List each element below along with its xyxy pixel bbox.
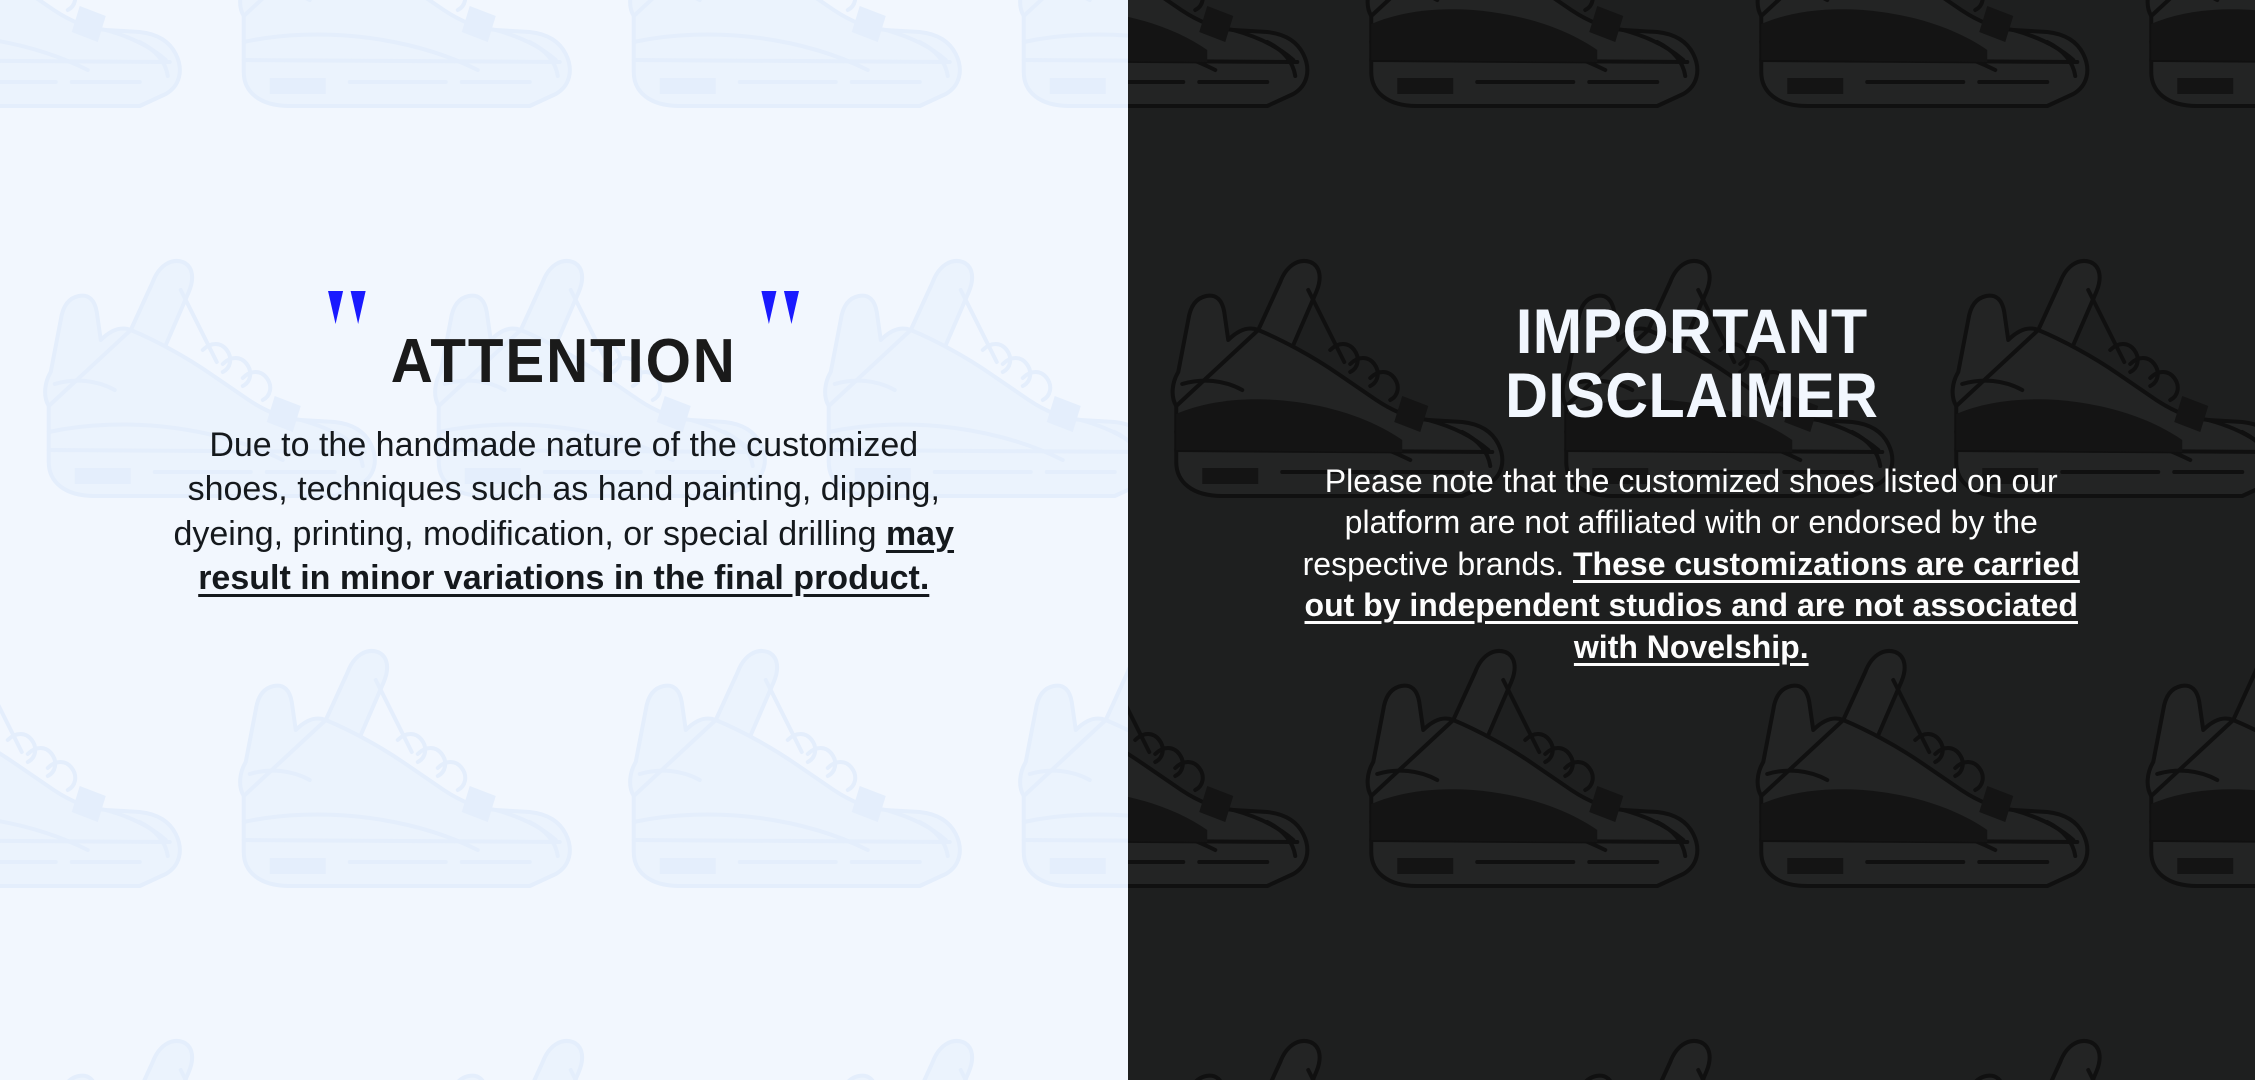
disclaimer-body: Please note that the customized shoes li… bbox=[1291, 461, 2091, 669]
disclaimer-heading-line2: DISCLAIMER bbox=[1161, 364, 2221, 428]
double-exclamation-icon-right bbox=[761, 327, 800, 390]
double-exclamation-icon-left bbox=[328, 327, 367, 390]
disclaimer-heading-line1: IMPORTANT bbox=[1161, 300, 2221, 364]
disclaimer-content: IMPORTANT DISCLAIMER Please note that th… bbox=[1128, 300, 2255, 668]
attention-heading-text: ATTENTION bbox=[391, 330, 737, 393]
disclaimer-heading: IMPORTANT DISCLAIMER bbox=[1161, 300, 2221, 429]
promo-banner: ATTENTION Due to the handmade nature of … bbox=[0, 0, 2255, 1080]
attention-heading: ATTENTION bbox=[34, 330, 1094, 393]
disclaimer-panel: IMPORTANT DISCLAIMER Please note that th… bbox=[1128, 0, 2255, 1080]
attention-body-normal: Due to the handmade nature of the custom… bbox=[173, 426, 939, 552]
attention-body: Due to the handmade nature of the custom… bbox=[169, 423, 959, 600]
attention-panel: ATTENTION Due to the handmade nature of … bbox=[0, 0, 1128, 1080]
attention-content: ATTENTION Due to the handmade nature of … bbox=[0, 330, 1128, 600]
